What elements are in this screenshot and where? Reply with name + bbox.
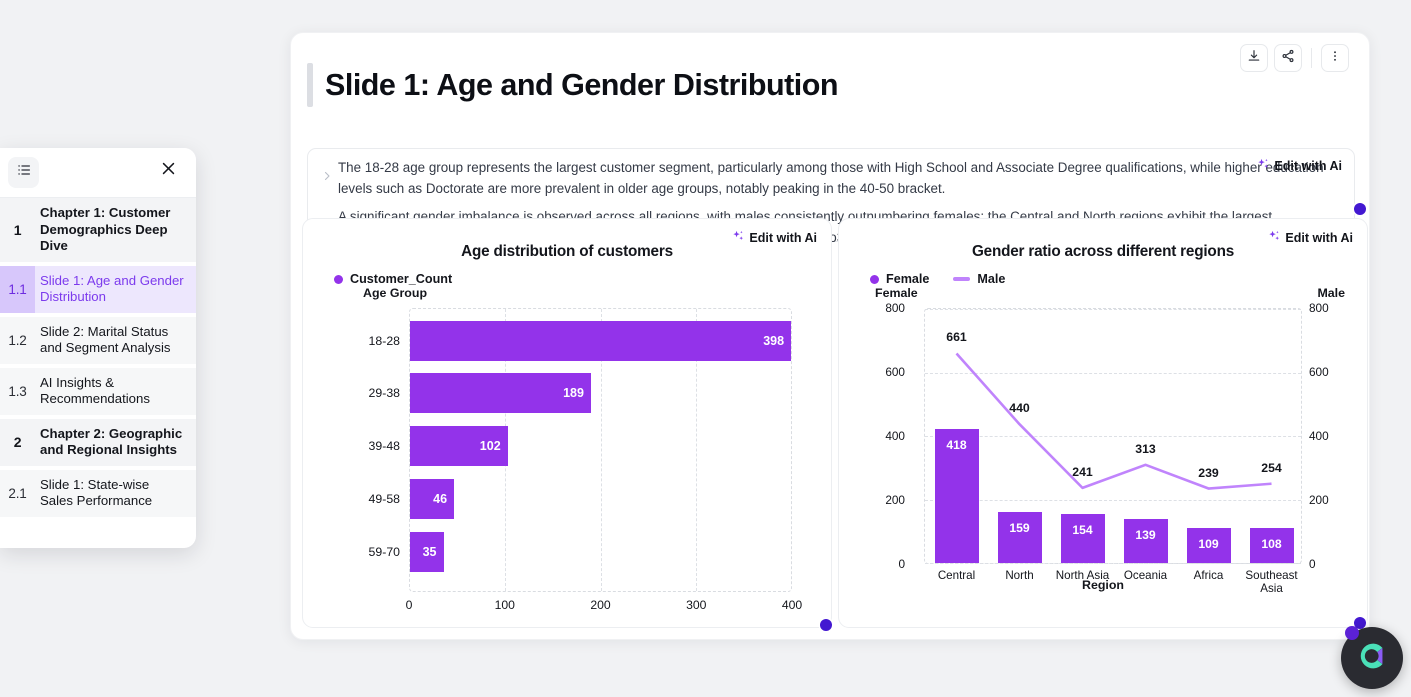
bar-row[interactable]: 59-70 35 — [410, 532, 444, 572]
x-axis-tick: 400 — [782, 598, 802, 612]
legend-item-customer-count[interactable]: Customer_Count — [334, 272, 452, 286]
resize-handle[interactable] — [1354, 203, 1366, 215]
edit-with-ai-chart2-button[interactable]: Edit with Ai — [1267, 229, 1353, 246]
assistant-fab-button[interactable] — [1341, 627, 1403, 689]
bar[interactable]: 398 — [410, 321, 791, 361]
y-axis-tick: 800 — [879, 301, 905, 315]
chart2-y-right-title: Male — [1317, 286, 1345, 300]
page-title: Slide 1: Age and Gender Distribution — [325, 63, 838, 107]
chart1-legend: Customer_Count — [303, 261, 831, 286]
sidebar-item-number: 1.1 — [0, 266, 35, 313]
line-point-label: 440 — [1009, 401, 1030, 415]
sidebar-item-label: Slide 2: Marital Status and Segment Anal… — [35, 317, 196, 364]
sidebar-item-label: Slide 1: State-wise Sales Performance — [35, 470, 196, 517]
outline-sidebar: 1Chapter 1: Customer Demographics Deep D… — [0, 148, 196, 548]
sidebar-item-number: 1.3 — [0, 368, 35, 415]
sidebar-item-1-3[interactable]: 1.3AI Insights & Recommendations — [0, 368, 196, 415]
bar-value-label: 102 — [480, 439, 501, 453]
legend-dot-icon — [334, 275, 343, 284]
bar-category-label: 49-58 — [350, 479, 410, 519]
legend-line-icon — [953, 277, 970, 281]
bar-row[interactable]: 39-48 102 — [410, 426, 508, 466]
line-point-label: 239 — [1198, 466, 1219, 480]
legend-label: Customer_Count — [350, 272, 452, 286]
line-point-label: 661 — [946, 330, 967, 344]
bar-category-label: 29-38 — [350, 373, 410, 413]
more-vertical-icon — [1328, 49, 1342, 68]
chart-panel-gender-ratio: Edit with Ai Gender ratio across differe… — [838, 218, 1368, 628]
line-point-label: 241 — [1072, 465, 1093, 479]
insight-bullet: The 18-28 age group represents the large… — [316, 157, 1344, 200]
y-axis-tick: 800 — [1309, 301, 1329, 315]
bar-row[interactable]: 18-28 398 — [410, 321, 791, 361]
resize-handle[interactable] — [820, 619, 832, 631]
sidebar-item-number: 1.2 — [0, 317, 35, 364]
y-axis-tick: 0 — [879, 557, 905, 571]
chart-panel-age-distribution: Edit with Ai Age distribution of custome… — [302, 218, 832, 628]
y-axis-tick: 600 — [1309, 365, 1329, 379]
y-axis-tick: 400 — [1309, 429, 1329, 443]
sparkle-icon — [731, 229, 745, 246]
insight-text: The 18-28 age group represents the large… — [338, 157, 1344, 200]
share-button[interactable] — [1274, 44, 1302, 72]
sidebar-item-label: AI Insights & Recommendations — [35, 368, 196, 415]
bar-value-label: 35 — [423, 545, 437, 559]
sidebar-item-1-2[interactable]: 1.2Slide 2: Marital Status and Segment A… — [0, 317, 196, 364]
chart2-x-axis-title: Region — [839, 578, 1367, 592]
x-axis-tick: 200 — [590, 598, 610, 612]
line-point-label: 313 — [1135, 442, 1156, 456]
legend-dot-icon — [870, 275, 879, 284]
y-axis-tick: 600 — [879, 365, 905, 379]
toolbar-divider — [1311, 48, 1312, 68]
male-line-path — [957, 353, 1272, 488]
sidebar-header — [0, 148, 196, 198]
bar[interactable]: 102 — [410, 426, 508, 466]
y-axis-tick: 200 — [1309, 493, 1329, 507]
sidebar-item-2[interactable]: 2Chapter 2: Geographic and Regional Insi… — [0, 419, 196, 466]
legend-item-male[interactable]: Male — [953, 272, 1005, 286]
bar-row[interactable]: 29-38 189 — [410, 373, 591, 413]
title-row: Slide 1: Age and Gender Distribution — [307, 63, 838, 107]
sidebar-item-1-1[interactable]: 1.1Slide 1: Age and Gender Distribution — [0, 266, 196, 313]
assistant-logo-icon — [1353, 637, 1391, 680]
chart1-plot: Age Group 18-28 398 29-38 189 39-48 102 — [303, 286, 831, 586]
y-axis-tick: 0 — [1309, 557, 1316, 571]
sidebar-item-number: 2 — [0, 419, 35, 466]
x-axis-tick: 100 — [495, 598, 515, 612]
chevron-right-icon[interactable] — [316, 157, 338, 182]
legend-label: Female — [886, 272, 929, 286]
bar[interactable]: 46 — [410, 479, 454, 519]
download-icon — [1247, 49, 1261, 68]
bar-value-label: 189 — [563, 386, 584, 400]
bar-category-label: 39-48 — [350, 426, 410, 466]
y-axis-tick: 400 — [879, 429, 905, 443]
edit-with-ai-chart1-button[interactable]: Edit with Ai — [731, 229, 817, 246]
edit-with-ai-header-button[interactable]: Edit with Ai — [1256, 157, 1342, 174]
x-axis-tick: 0 — [406, 598, 413, 612]
sidebar-item-number: 2.1 — [0, 470, 35, 517]
bar-row[interactable]: 49-58 46 — [410, 479, 454, 519]
download-button[interactable] — [1240, 44, 1268, 72]
x-axis-tick: 300 — [686, 598, 706, 612]
sparkle-icon — [1256, 157, 1270, 174]
sidebar-item-label: Slide 1: Age and Gender Distribution — [35, 266, 196, 313]
sidebar-item-label: Chapter 2: Geographic and Regional Insig… — [35, 419, 196, 466]
title-accent-bar — [307, 63, 313, 107]
sidebar-item-number: 1 — [0, 198, 35, 262]
sparkle-icon — [1267, 229, 1281, 246]
share-icon — [1281, 49, 1295, 68]
sidebar-items[interactable]: 1Chapter 1: Customer Demographics Deep D… — [0, 198, 196, 548]
sidebar-item-2-1[interactable]: 2.1Slide 1: State-wise Sales Performance — [0, 470, 196, 517]
legend-item-female[interactable]: Female — [870, 272, 929, 286]
bar-value-label: 398 — [763, 334, 784, 348]
sidebar-item-label: Chapter 1: Customer Demographics Deep Di… — [35, 198, 196, 262]
line-point-label: 254 — [1261, 461, 1282, 475]
chart1-plot-area: 18-28 398 29-38 189 39-48 102 49-58 46 5… — [409, 308, 792, 592]
bar-category-label: 18-28 — [350, 321, 410, 361]
edit-with-ai-label: Edit with Ai — [749, 231, 817, 245]
card-toolbar — [1240, 44, 1349, 72]
chart1-y-axis-title: Age Group — [363, 286, 427, 300]
chart2-legend: Female Male — [839, 261, 1367, 286]
y-axis-tick: 200 — [879, 493, 905, 507]
bar-value-label: 46 — [433, 492, 447, 506]
more-options-button[interactable] — [1321, 44, 1349, 72]
edit-with-ai-label: Edit with Ai — [1285, 231, 1353, 245]
outline-toggle-button[interactable] — [8, 157, 39, 188]
male-line-series — [925, 309, 1303, 565]
close-icon — [160, 160, 177, 182]
bar-category-label: 59-70 — [350, 532, 410, 572]
chart2-y-left-title: Female — [875, 286, 918, 300]
list-outline-icon — [16, 162, 32, 183]
chart2-plot-area: 418159154139109108 661440241313239254 Ce… — [924, 308, 1302, 564]
bar[interactable]: 35 — [410, 532, 444, 572]
sidebar-item-1[interactable]: 1Chapter 1: Customer Demographics Deep D… — [0, 198, 196, 262]
legend-label: Male — [977, 272, 1005, 286]
bar[interactable]: 189 — [410, 373, 591, 413]
edit-with-ai-label: Edit with Ai — [1274, 159, 1342, 173]
fab-badge-icon — [1345, 626, 1359, 640]
app-root: Slide 1: Age and Gender Distribution Edi… — [0, 0, 1411, 697]
close-sidebar-button[interactable] — [157, 160, 179, 182]
chart2-plot: Female Male 418159154139109108 661440241… — [839, 286, 1367, 586]
